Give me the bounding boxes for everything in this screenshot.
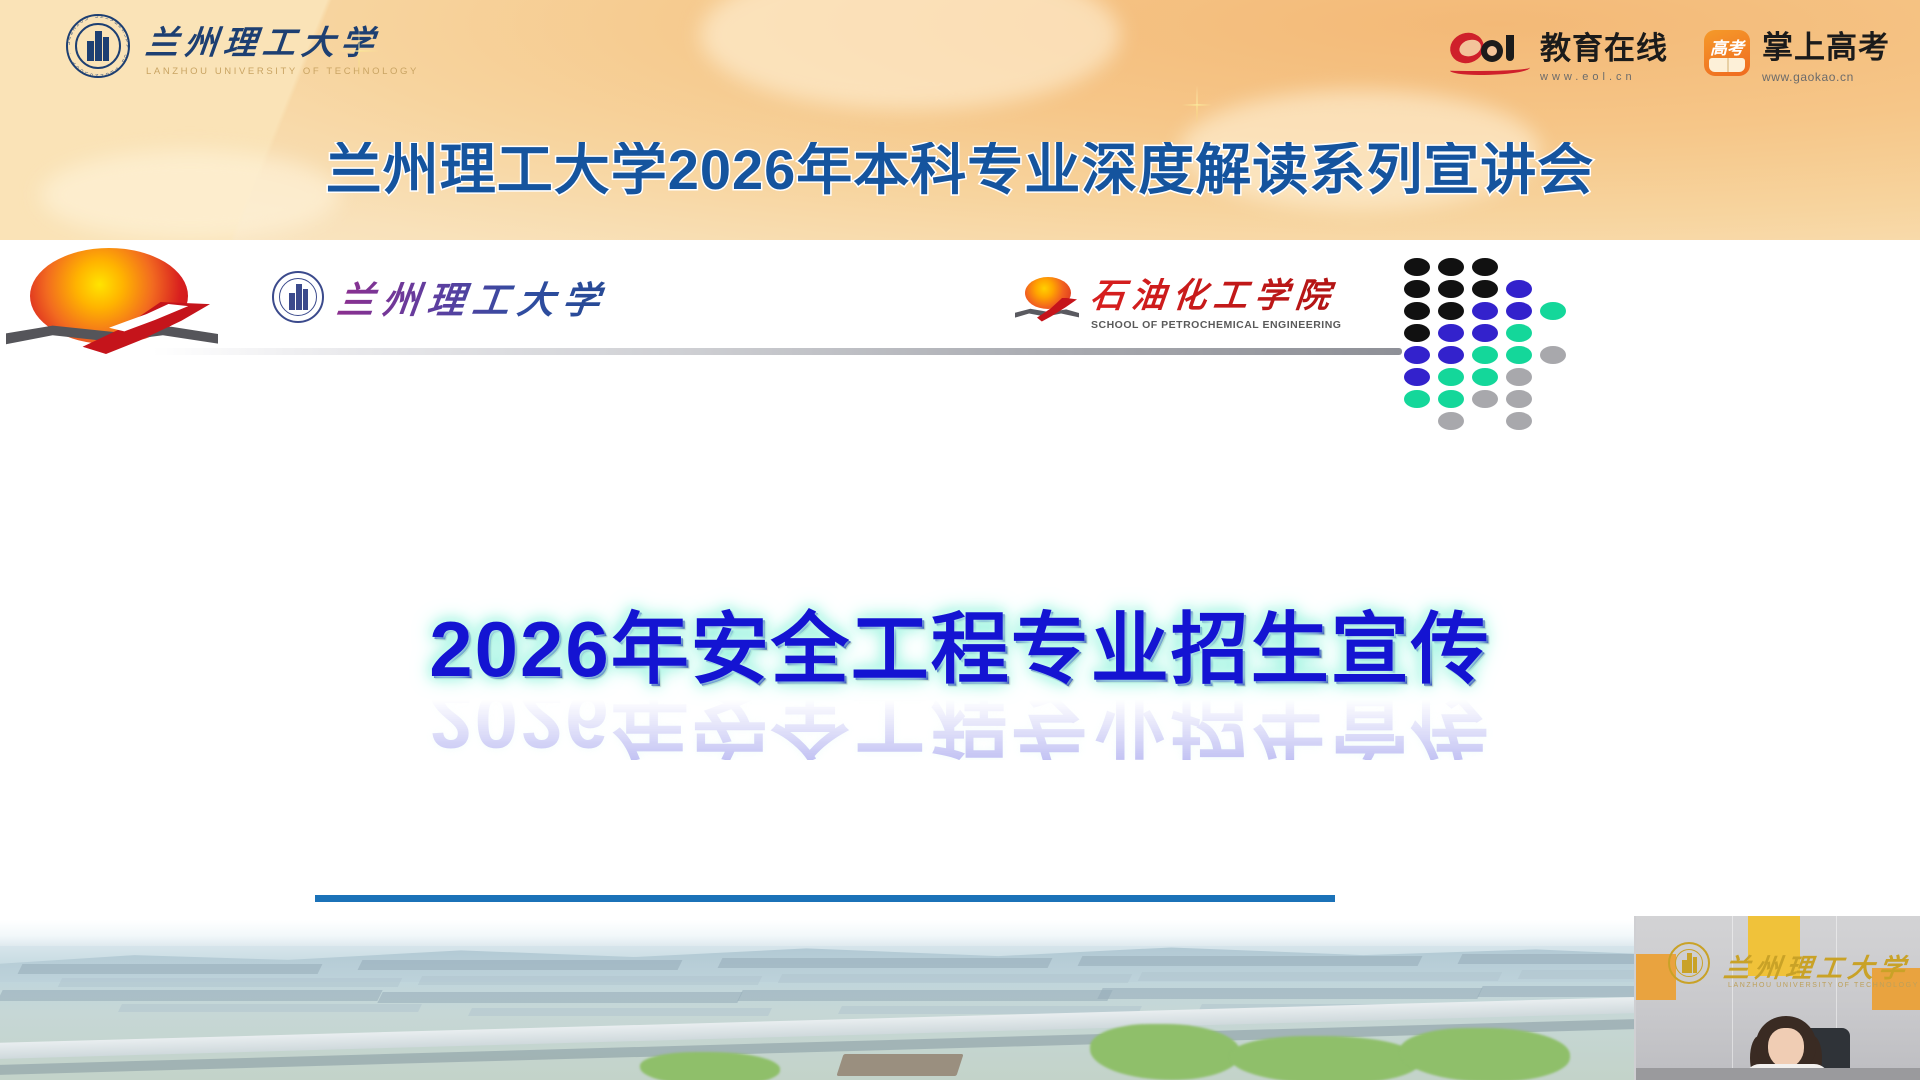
matrix-dot [1506,412,1532,430]
sparkle-icon [338,24,380,78]
gaokao-app-icon: 高考 [1704,30,1750,76]
college-text-block: 石油化工学院 SCHOOL OF PETROCHEMICAL ENGINEERI… [1091,268,1341,331]
presenter-webcam-overlay[interactable]: 兰州理工大学 LANZHOU UNIVERSITY OF TECHNOLOGY [1634,916,1920,1080]
matrix-dot [1472,280,1498,298]
matrix-dot [1438,412,1464,430]
cloud-shape [700,0,1120,110]
backdrop-university-en: LANZHOU UNIVERSITY OF TECHNOLOGY [1728,982,1919,989]
university-name-cn-slide: 兰州理工大学 [335,270,612,324]
slide-main-title: 2026年安全工程专业招生宣传 [429,610,1491,688]
matrix-dot [1404,258,1430,276]
matrix-dot [1506,324,1532,342]
matrix-dot [1404,390,1430,408]
eol-logo[interactable]: 教育在线 www.eol.cn [1450,23,1668,83]
matrix-dot [1540,346,1566,364]
matrix-dot [1506,302,1532,320]
matrix-dot [1438,280,1464,298]
campus-aerial-photo [0,920,1920,1080]
matrix-dot [1438,302,1464,320]
matrix-dot [1404,280,1430,298]
matrix-dot [1506,368,1532,386]
photo-greenery [1400,1028,1570,1080]
gaokao-icon-text: 高考 [1704,34,1750,59]
eol-text-block: 教育在线 www.eol.cn [1540,23,1668,83]
photo-greenery [1090,1024,1240,1080]
matrix-dot [1540,302,1566,320]
face [1768,1028,1804,1068]
matrix-dot [1438,346,1464,364]
university-seal-icon: LANZHOU UNIVERSITY OF TECHNOLOGY · [66,14,130,78]
desk-edge [1636,1068,1920,1080]
gaokao-name-cn: 掌上高考 [1762,22,1890,67]
matrix-dot [1438,324,1464,342]
matrix-dot [1404,324,1430,342]
matrix-dot [1506,346,1532,364]
title-underline-rule [315,895,1335,902]
university-seal-icon [272,271,324,323]
matrix-dot [1404,368,1430,386]
partner-logos: 教育在线 www.eol.cn 高考 掌上高考 www.gaokao.cn [1450,22,1890,84]
cloud-shape [1180,90,1540,210]
broadcast-header-band: LANZHOU UNIVERSITY OF TECHNOLOGY · 兰州理工大… [0,0,1920,240]
matrix-dot [1472,324,1498,342]
university-logo-slide: 兰州理工大学 [272,270,608,324]
matrix-dot [1438,390,1464,408]
seal-tower-icon [87,31,109,61]
college-logo: 石油化工学院 SCHOOL OF PETROCHEMICAL ENGINEERI… [1015,268,1341,331]
slide-header-row: 兰州理工大学 石油化工学院 SCHOOL OF PETROCHEMICAL EN… [0,240,1920,370]
slide-main-title-reflection: 2026年安全工程专业招生宣传 [0,682,1920,760]
dot-matrix-decoration [1404,258,1584,438]
matrix-dot [1472,302,1498,320]
matrix-dot [1506,390,1532,408]
photo-greenery [640,1052,780,1080]
eol-glyph-icon [1450,31,1528,75]
gaokao-logo[interactable]: 高考 掌上高考 www.gaokao.cn [1704,22,1890,84]
eol-url: www.eol.cn [1540,71,1668,83]
presentation-screen: LANZHOU UNIVERSITY OF TECHNOLOGY · 兰州理工大… [0,0,1920,1080]
sun-emblem-icon [6,248,218,356]
seal-tower-icon [289,284,307,310]
slide-title-block: 2026年安全工程专业招生宣传 2026年安全工程专业招生宣传 [0,610,1920,760]
matrix-dot [1438,368,1464,386]
matrix-dot [1472,258,1498,276]
matrix-dot [1506,280,1532,298]
matrix-dot [1472,346,1498,364]
college-name-en: SCHOOL OF PETROCHEMICAL ENGINEERING [1091,319,1341,331]
matrix-dot [1404,302,1430,320]
photo-sky [0,920,1920,946]
matrix-dot [1404,346,1430,364]
gaokao-url: www.gaokao.cn [1762,70,1890,84]
matrix-dot [1472,368,1498,386]
matrix-dot [1472,390,1498,408]
photo-building-roof [836,1054,963,1076]
photo-greenery [1230,1036,1420,1080]
college-name-cn: 石油化工学院 [1088,268,1344,317]
eol-name-cn: 教育在线 [1540,23,1668,68]
gaokao-text-block: 掌上高考 www.gaokao.cn [1762,22,1890,84]
book-icon [1709,58,1745,72]
backdrop-seal-icon [1668,942,1710,984]
backdrop-university-cn: 兰州理工大学 [1722,948,1913,985]
sparkle-icon [1182,86,1212,124]
cloud-shape [40,150,340,240]
matrix-dot [1438,258,1464,276]
slide-canvas: 兰州理工大学 石油化工学院 SCHOOL OF PETROCHEMICAL EN… [0,240,1920,920]
header-divider-rule [152,348,1402,355]
sun-emblem-icon-small [1015,277,1079,323]
